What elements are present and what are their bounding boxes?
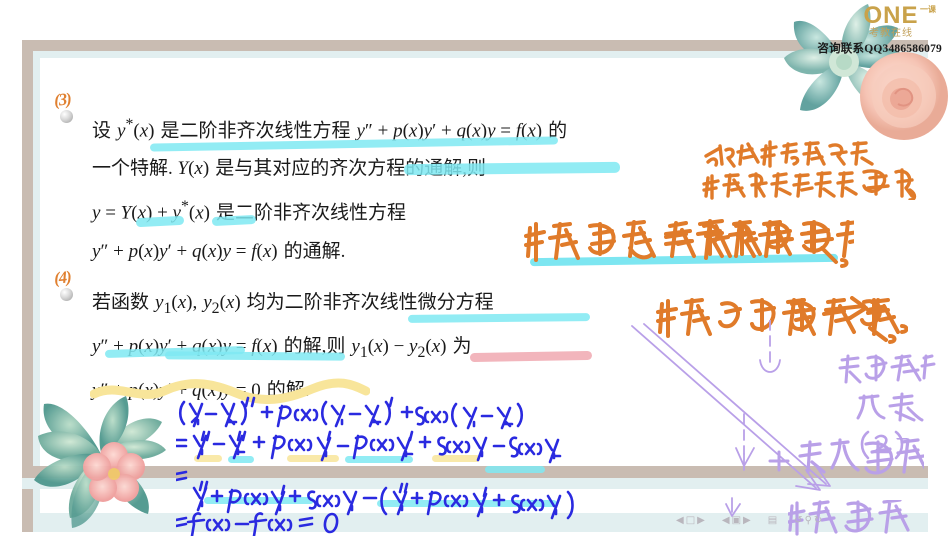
item-number-4: (4) [53,267,72,289]
list-item-3: (3) 设y*(x)是二阶非齐次线性方程y″ + p(x)y′ + q(x)y … [92,106,567,271]
list-item-4: (4) 若函数y1(x),y2(x)均为二阶非齐次线性微分方程 y″ + p(x… [92,284,494,410]
search-icon[interactable]: ⚲ [805,516,812,526]
next-subsection-icon[interactable]: ▶ [743,516,751,526]
subsection-icon[interactable]: ▣ [732,516,741,526]
brand-logo-superscript: 一课 [920,4,936,15]
section-icon[interactable]: ▤ [768,516,777,526]
bullet-icon [60,110,73,123]
prev-subsection-icon[interactable]: ◀ [722,516,730,526]
back-icon[interactable]: ↺ [794,516,802,526]
item-number-3: (3) [53,89,72,111]
item3-line-1: 设y*(x)是二阶非齐次线性方程y″ + p(x)y′ + q(x)y = f(… [92,106,567,150]
forward-icon[interactable]: ↻ [814,516,822,526]
frame-icon[interactable]: □ [686,516,695,526]
brand-logo: ONE 一课 考教在线 [842,4,940,40]
item4-line-3: y″ + p(x)y′ + q(x)y = 0的解. [92,372,494,410]
beamer-navigation-bar[interactable]: ◀ □ ▶ ◀ ▣ ▶ ▤ ↺ ⚲ ↻ [676,512,938,530]
item3-line-4: y″ + p(x)y′ + q(x)y = f(x)的通解. [92,233,567,271]
next-frame-icon[interactable]: ▶ [697,516,705,526]
item4-line-1: 若函数y1(x),y2(x)均为二阶非齐次线性微分方程 [92,284,494,328]
slide-canvas: (3) 设y*(x)是二阶非齐次线性方程y″ + p(x)y′ + q(x)y … [0,0,950,535]
prev-frame-icon[interactable]: ◀ [676,516,684,526]
contact-watermark: 咨询联系QQ3486586079 [817,40,942,56]
item3-line-3: y = Y(x) + y*(x)是二阶非齐次线性方程 [92,188,567,232]
item4-line-2: y″ + p(x)y′ + q(x)y = f(x)的解,则y1(x) − y2… [92,328,494,372]
bullet-icon [60,288,73,301]
slide-content: (3) 设y*(x)是二阶非齐次线性方程y″ + p(x)y′ + q(x)y … [40,58,928,513]
brand-logo-subtitle: 考教在线 [842,28,940,40]
item3-line-2: 一个特解. Y(x)是与其对应的齐次方程的通解,则 [92,150,567,188]
